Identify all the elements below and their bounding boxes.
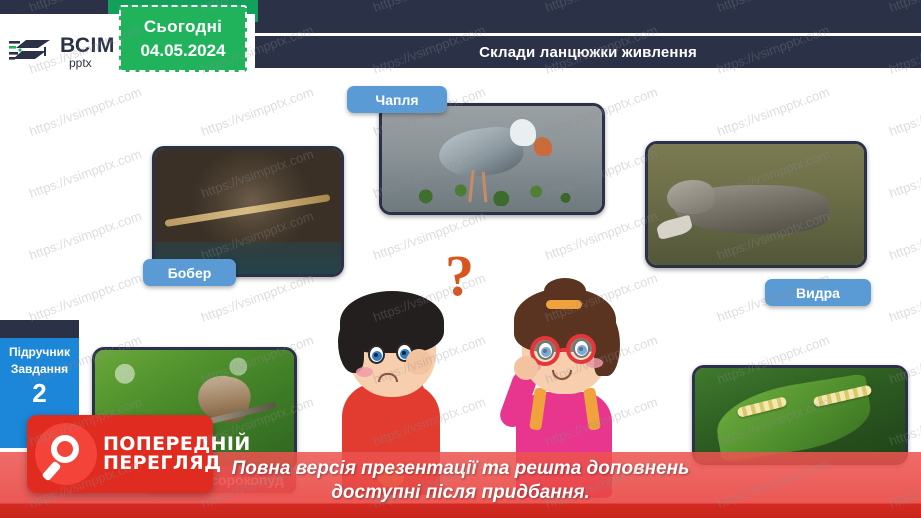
label-otter-text: Видра (796, 285, 840, 301)
label-heron[interactable]: Чапля (347, 86, 447, 113)
brand-suffix: pptx (69, 57, 115, 69)
page-title: Склади ланцюжки живлення (479, 44, 697, 61)
slide-root: ВСІМ pptx Сьогодні 04.05.2024 Склади лан… (0, 0, 921, 518)
caterpillar-photo (695, 368, 905, 462)
girl-glasses-right-lens (566, 334, 596, 364)
boy-pupil-left (372, 351, 382, 361)
today-label: Сьогодні (144, 17, 222, 37)
otter-photo (648, 144, 864, 265)
magnifier-icon (35, 423, 97, 485)
brand-logo: ВСІМ pptx (8, 31, 128, 73)
caterpillar-right (812, 384, 872, 407)
photo-card-otter[interactable] (645, 141, 867, 268)
photo-card-heron[interactable] (379, 103, 605, 215)
today-date-badge: Сьогодні 04.05.2024 (119, 5, 247, 72)
banner-line-2: доступні після придбання. (331, 481, 590, 505)
sidebar-line-2: Завдання (11, 362, 68, 376)
boy-mouth (378, 373, 398, 382)
magnifier-handle (41, 461, 61, 482)
heron-photo (382, 106, 602, 212)
boy-blush-left (356, 367, 373, 377)
sidebar-top-cap (0, 320, 79, 338)
sidebar-task-number: 2 (32, 378, 46, 409)
preview-badge[interactable]: ПОПЕРЕДНІЙ ПЕРЕГЛЯД (27, 415, 213, 493)
caterpillar-left (737, 396, 788, 418)
brand-name: ВСІМ (60, 35, 115, 56)
label-beaver-text: Бобер (168, 265, 212, 281)
beaver-photo (155, 149, 341, 274)
label-beaver[interactable]: Бобер (143, 259, 236, 286)
magnifier-lens (51, 435, 79, 463)
boy-hair-side (338, 321, 364, 373)
banner-line-1: Повна версія презентації та решта доповн… (232, 457, 690, 481)
label-otter[interactable]: Видра (765, 279, 871, 306)
sidebar-line-1: Підручник (9, 345, 70, 359)
photo-card-beaver[interactable] (152, 146, 344, 277)
boy-hand (406, 349, 432, 375)
slide-title-bar: Склади ланцюжки живлення (255, 36, 921, 68)
today-date: 04.05.2024 (140, 41, 225, 61)
girl-glasses-bridge (560, 348, 568, 352)
girl-hand (514, 356, 538, 380)
photo-card-caterpillar[interactable] (692, 365, 908, 465)
otter-fish (655, 215, 693, 240)
label-heron-text: Чапля (375, 92, 418, 108)
heron-water-plants (400, 182, 585, 205)
girl-hair-band (546, 300, 582, 309)
graduation-cap-icon (8, 34, 56, 70)
preview-line-2: ПЕРЕГЛЯД (103, 454, 251, 473)
